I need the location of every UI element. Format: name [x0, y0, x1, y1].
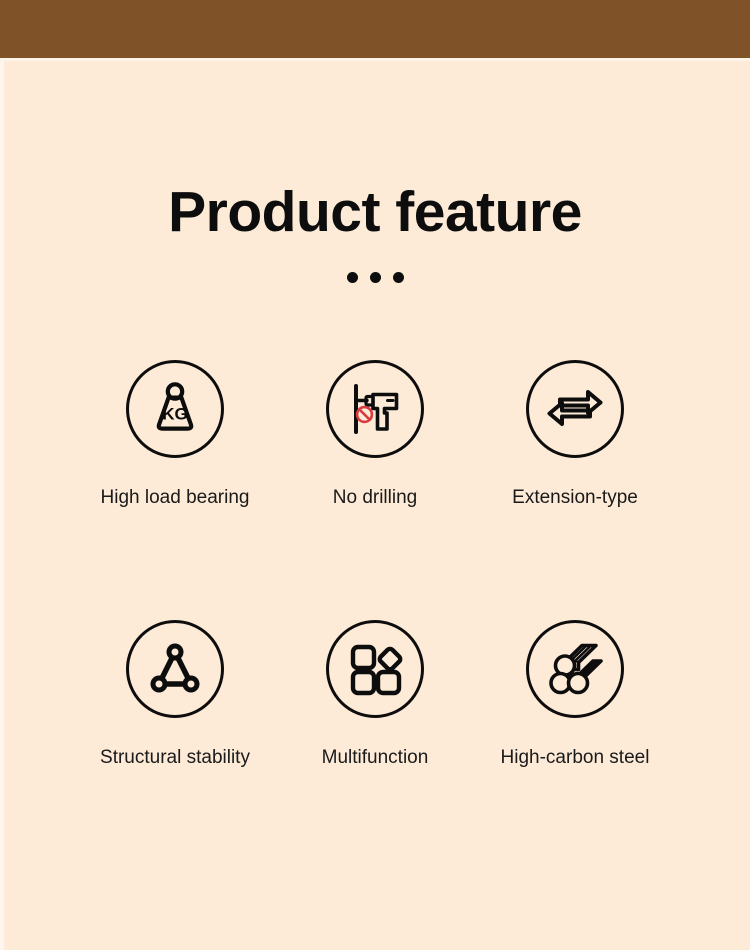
- feature-row-1: KG High load bearing: [0, 360, 750, 510]
- feature-item-extension-type: Extension-type: [475, 360, 675, 510]
- feature-item-high-carbon-steel: High-carbon steel: [475, 620, 675, 770]
- feature-item-structural-stability: Structural stability: [75, 620, 275, 770]
- top-banner-bar: [0, 0, 750, 58]
- feature-item-multifunction: Multifunction: [275, 620, 475, 770]
- feature-item-high-load-bearing: KG High load bearing: [75, 360, 275, 510]
- feature-icon-circle: [326, 620, 424, 718]
- feature-label: No drilling: [333, 486, 417, 510]
- no-drilling-icon: [343, 377, 407, 441]
- four-shapes-icon: [345, 639, 405, 699]
- divider-dots: [0, 272, 750, 283]
- feature-label: High load bearing: [101, 486, 250, 510]
- page-title: Product feature: [0, 178, 750, 246]
- double-arrow-icon: [543, 377, 607, 441]
- divider-dot-2: [370, 272, 381, 283]
- divider-dot-1: [347, 272, 358, 283]
- feature-label: High-carbon steel: [501, 746, 650, 770]
- feature-icon-circle: [326, 360, 424, 458]
- feature-icon-circle: KG: [126, 360, 224, 458]
- banner-seam: [0, 58, 750, 61]
- divider-dot-3: [393, 272, 404, 283]
- feature-icon-circle: [526, 620, 624, 718]
- feature-item-no-drilling: No drilling: [275, 360, 475, 510]
- feature-label: Extension-type: [512, 486, 638, 510]
- weight-kg-icon: KG: [144, 378, 206, 440]
- triangle-nodes-icon: [145, 639, 205, 699]
- feature-grid: KG High load bearing: [0, 360, 750, 770]
- feature-label: Structural stability: [100, 746, 250, 770]
- feature-icon-circle: [526, 360, 624, 458]
- feature-icon-circle: [126, 620, 224, 718]
- steel-bars-icon: [544, 638, 606, 700]
- feature-row-2: Structural stability Multifunction: [0, 620, 750, 770]
- feature-label: Multifunction: [322, 746, 429, 770]
- weight-icon-kg-label: KG: [162, 405, 188, 424]
- product-feature-page: Product feature KG High load bearin: [0, 0, 750, 950]
